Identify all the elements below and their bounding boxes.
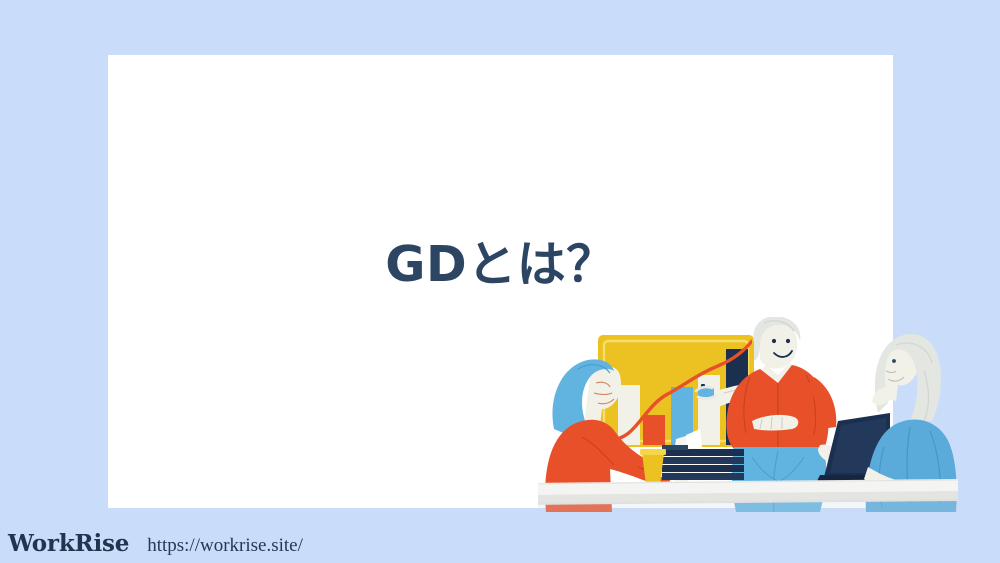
slide-content-card: GDとは？ (108, 55, 893, 508)
footer: WorkRise https://workrise.site/ (8, 530, 303, 557)
book-stack (662, 445, 744, 480)
meeting-table (538, 479, 958, 512)
business-meeting-illustration (538, 317, 958, 512)
brand-name: WorkRise (8, 530, 129, 557)
slide-root: GDとは？ (0, 0, 1000, 563)
site-url[interactable]: https://workrise.site/ (147, 535, 303, 557)
page-title: GDとは？ (108, 240, 893, 289)
